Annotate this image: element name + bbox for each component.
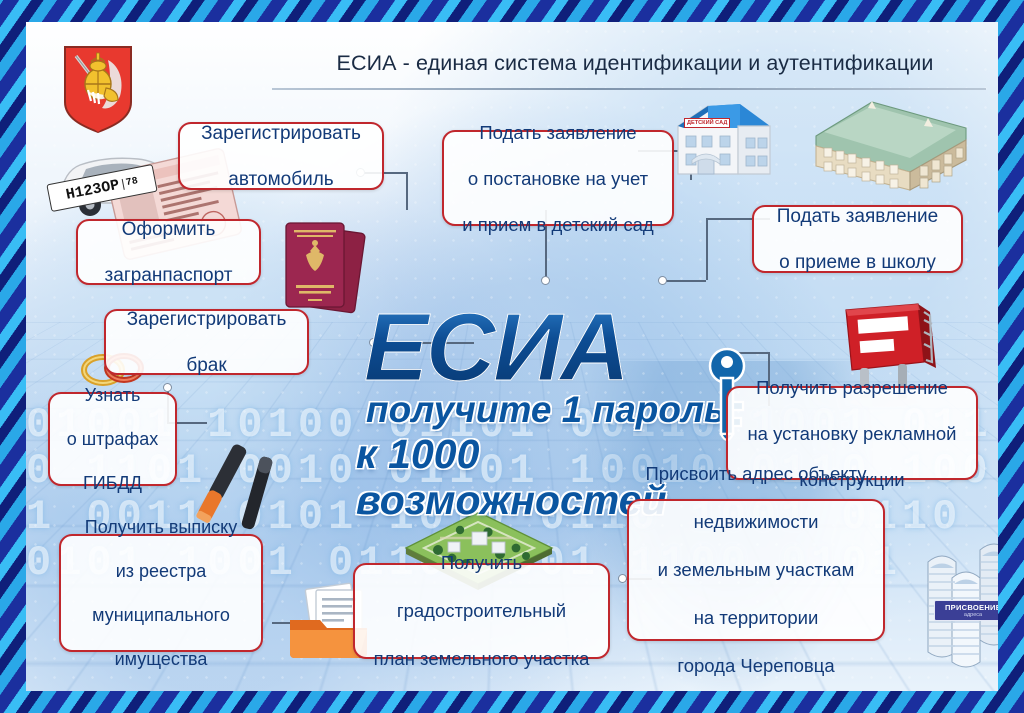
connector-school-v [706, 218, 708, 280]
callout-line: из реестра [70, 560, 252, 582]
esia-acronym: ЕСИА [356, 302, 756, 394]
callout-line: Узнать [59, 384, 166, 406]
kindergarten-sign: ДЕТСКИЙ САД [684, 118, 730, 128]
callout-line: о приеме в школу [763, 251, 952, 274]
kindergarten-building: ДЕТСКИЙ САД [666, 82, 782, 188]
callout-line: ГИБДД [59, 472, 166, 494]
license-plate-number: Н123ОР [65, 176, 121, 203]
callout-line: муниципального [70, 604, 252, 626]
callout-line: Подать заявление [453, 121, 663, 144]
connector-school-h [662, 280, 706, 282]
node-address [618, 574, 627, 583]
callout-line: и земельным участкам [638, 558, 874, 582]
callout-register-marriage[interactable]: Зарегистрировать брак [104, 309, 309, 375]
callout-kindergarten[interactable]: Подать заявление о постановке на учет и … [442, 130, 674, 226]
callout-line: автомобиль [189, 168, 373, 191]
callout-line: Зарегистрировать [189, 122, 373, 145]
callout-line: Получить выписку [70, 516, 252, 538]
callout-register-car[interactable]: Зарегистрировать автомобиль [178, 122, 384, 190]
highrise-sign: ПРИСВОЕНИЕ адреса [934, 600, 998, 621]
poster-root: 01001 10100 01101 00110 1001 0110 1101 0… [0, 0, 1024, 713]
callout-line: о штрафах [59, 428, 166, 450]
page-title: ЕСИА - единая система идентификации и ау… [276, 51, 994, 76]
callout-line: недвижимости [638, 510, 874, 534]
callout-line: Зарегистрировать [115, 308, 298, 331]
callout-line: Получить [364, 551, 599, 575]
callout-school[interactable]: Подать заявление о приеме в школу [752, 205, 963, 273]
callout-line: имущества [70, 648, 252, 670]
callout-line: брак [115, 354, 298, 377]
vologda-coat-of-arms-icon [62, 44, 134, 134]
callout-line: градостроительный [364, 599, 599, 623]
callout-municipal-registry[interactable]: Получить выписку из реестра муниципально… [59, 534, 263, 652]
license-plate-region: 78 [121, 176, 139, 190]
node-school [658, 276, 667, 285]
callout-traffic-fines[interactable]: Узнать о штрафах ГИБДД [48, 392, 177, 486]
callout-line: загранпаспорт [87, 264, 250, 287]
callout-line: на установку рекламной [737, 422, 967, 445]
callout-urban-plan[interactable]: Получить градостроительный план земельно… [353, 563, 610, 659]
connector-car-v [406, 172, 408, 210]
callout-line: Подать заявление [763, 205, 952, 228]
callout-line: Присвоить адрес объекту [638, 462, 874, 486]
callout-line: на территории [638, 606, 874, 630]
esia-tagline-1: получите 1 пароль [356, 390, 756, 430]
callout-line: Получить разрешение [737, 376, 967, 399]
callout-line: Оформить [87, 218, 250, 241]
callout-line: и прием в детский сад [453, 213, 663, 236]
callout-line: города Череповца [638, 654, 874, 678]
callout-line: о постановке на учет [453, 167, 663, 190]
callout-foreign-passport[interactable]: Оформить загранпаспорт [76, 219, 261, 285]
node-kindergarten [541, 276, 550, 285]
callout-address-assignment[interactable]: Присвоить адрес объекту недвижимости и з… [627, 499, 885, 641]
poster-sheet: 01001 10100 01101 00110 1001 0110 1101 0… [26, 22, 998, 691]
callout-line: план земельного участка [364, 647, 599, 671]
school-building [806, 88, 976, 196]
highrise-buildings: ПРИСВОЕНИЕ адреса [922, 522, 998, 672]
